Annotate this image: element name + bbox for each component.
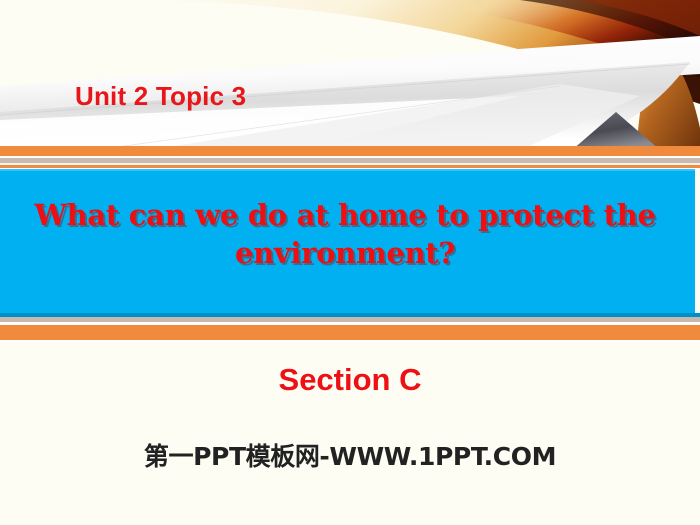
watermark-text: 第一PPT模板网-WWW.1PPT.COM bbox=[0, 437, 700, 473]
stripe-orange-lower bbox=[0, 325, 700, 340]
bottom-stripe-band bbox=[0, 310, 700, 342]
main-title: What can we do at home to protect the en… bbox=[0, 196, 690, 272]
slide-canvas: Unit 2 Topic 3 What can we do at home to… bbox=[0, 0, 700, 525]
stripe-white-lower-2 bbox=[0, 340, 700, 342]
swoosh-graphic bbox=[0, 0, 700, 150]
unit-topic-label: Unit 2 Topic 3 bbox=[75, 81, 246, 112]
stripe-white-upper-3 bbox=[0, 168, 700, 169]
stripe-orange-upper bbox=[0, 146, 700, 156]
header-decoration bbox=[0, 0, 700, 150]
section-label: Section C bbox=[0, 362, 700, 398]
top-stripe-band bbox=[0, 146, 700, 172]
